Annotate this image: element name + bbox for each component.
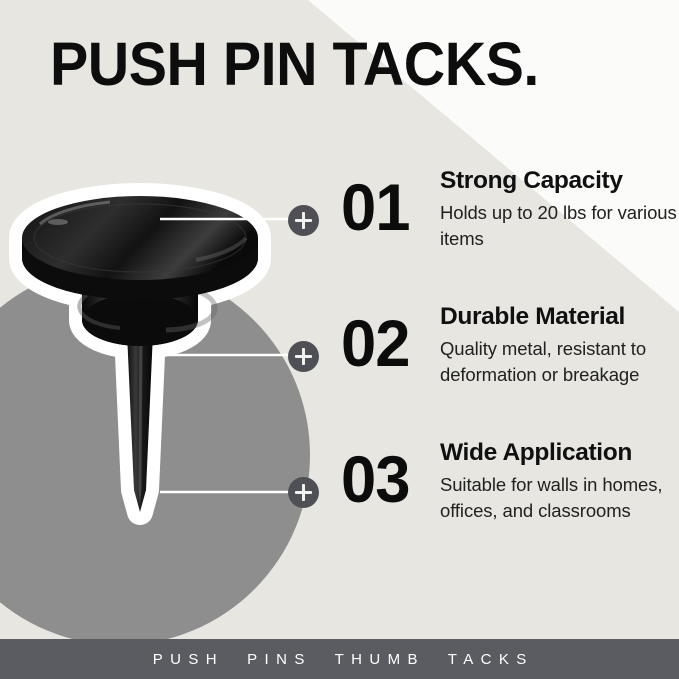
footer-bar: PUSH PINS THUMB TACKS xyxy=(0,639,679,679)
feature-item-1: 01 Strong Capacity Holds up to 20 lbs fo… xyxy=(288,166,679,286)
feature-text-block: Wide Application Suitable for walls in h… xyxy=(440,438,679,523)
feature-title: Wide Application xyxy=(440,438,679,467)
plus-icon xyxy=(288,477,319,508)
feature-number: 03 xyxy=(341,446,410,512)
feature-description: Suitable for walls in homes, offices, an… xyxy=(440,472,679,523)
feature-text-block: Durable Material Quality metal, resistan… xyxy=(440,302,679,387)
feature-description: Holds up to 20 lbs for various items xyxy=(440,200,679,251)
footer-keywords: PUSH PINS THUMB TACKS xyxy=(145,651,533,668)
plus-icon-vertical xyxy=(302,484,305,501)
feature-title: Durable Material xyxy=(440,302,679,331)
product-infographic: PUSH PIN TACKS. xyxy=(0,0,679,679)
plus-icon xyxy=(288,341,319,372)
feature-description: Quality metal, resistant to deformation … xyxy=(440,336,679,387)
feature-item-3: 03 Wide Application Suitable for walls i… xyxy=(288,438,679,558)
feature-title: Strong Capacity xyxy=(440,166,679,195)
feature-number: 02 xyxy=(341,310,410,376)
feature-item-2: 02 Durable Material Quality metal, resis… xyxy=(288,302,679,422)
feature-number: 01 xyxy=(341,174,410,240)
plus-icon-vertical xyxy=(302,212,305,229)
plus-icon-vertical xyxy=(302,348,305,365)
plus-icon xyxy=(288,205,319,236)
feature-text-block: Strong Capacity Holds up to 20 lbs for v… xyxy=(440,166,679,251)
